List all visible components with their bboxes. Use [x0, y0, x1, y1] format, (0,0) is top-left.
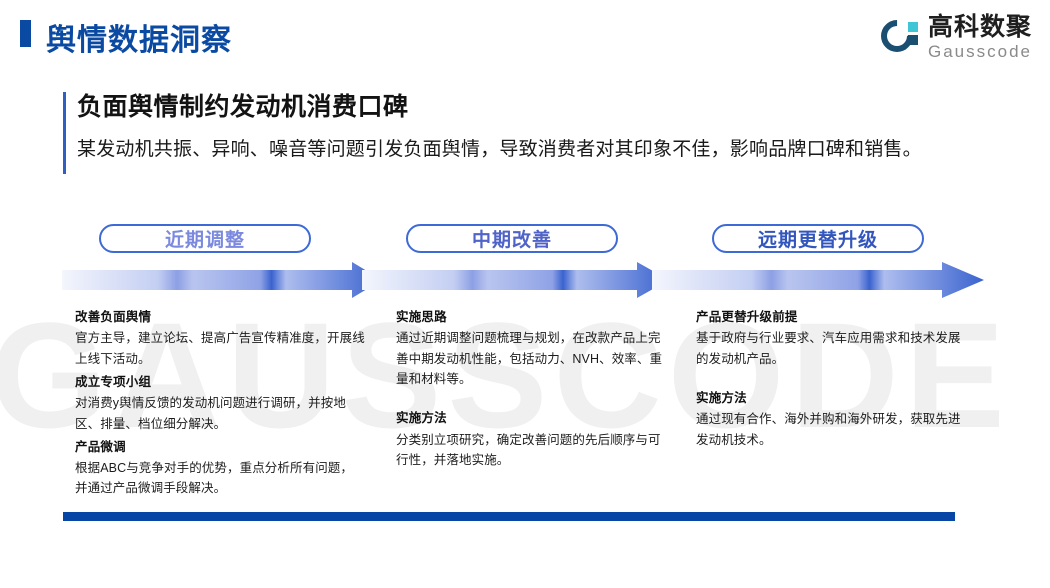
block-spacer — [396, 393, 671, 409]
lead-subtitle: 某发动机共振、异响、噪音等问题引发负面舆情，导致消费者对其印象不佳，影响品牌口碑… — [77, 138, 983, 163]
block-body: 基于政府与行业要求、汽车应用需求和技术发展的发动机产品。 — [696, 328, 971, 369]
content-block: 改善负面舆情 官方主导，建立论坛、提高广告宣传精准度，开展线上线下活动。 — [75, 308, 365, 369]
logo-name-en: Gausscode — [928, 43, 1032, 60]
content-block: 实施方法 通过现有合作、海外并购和海外研发，获取先进发动机技术。 — [696, 389, 971, 450]
content-block: 成立专项小组 对消费y舆情反馈的发动机问题进行调研，并按地区、排量、档位细分解决… — [75, 373, 365, 434]
block-heading: 产品更替升级前提 — [696, 308, 971, 327]
logo-wordmark: 高科数聚 Gausscode — [928, 15, 1032, 60]
phase-pill-label: 中期改善 — [472, 225, 552, 252]
logo-accent-square-icon — [908, 22, 918, 32]
block-heading: 产品微调 — [75, 438, 365, 457]
block-body: 通过现有合作、海外并购和海外研发，获取先进发动机技术。 — [696, 409, 971, 450]
block-spacer — [696, 373, 971, 389]
block-heading: 成立专项小组 — [75, 373, 365, 392]
column-long-term: 产品更替升级前提 基于政府与行业要求、汽车应用需求和技术发展的发动机产品。 实施… — [696, 308, 971, 454]
phase-pill-near-term[interactable]: 近期调整 — [99, 224, 311, 253]
page-title: 舆情数据洞察 — [46, 15, 232, 59]
column-mid-term: 实施思路 通过近期调整问题梳理与规划，在改款产品上完善中期发动机性能，包括动力、… — [396, 308, 671, 474]
footer-accent-bar — [63, 512, 955, 521]
content-block: 实施思路 通过近期调整问题梳理与规划，在改款产品上完善中期发动机性能，包括动力、… — [396, 308, 671, 389]
content-block: 产品微调 根据ABC与竞争对手的优势，重点分析所有问题，并通过产品微调手段解决。 — [75, 438, 365, 499]
block-body: 官方主导，建立论坛、提高广告宣传精准度，开展线上线下活动。 — [75, 328, 365, 369]
logo-dark-square-icon — [908, 35, 918, 45]
block-body: 通过近期调整问题梳理与规划，在改款产品上完善中期发动机性能，包括动力、NVH、效… — [396, 328, 671, 389]
phase-pill-label: 远期更替升级 — [758, 225, 878, 252]
logo-name-cn: 高科数聚 — [928, 15, 1032, 40]
block-body: 对消费y舆情反馈的发动机问题进行调研，并按地区、排量、档位细分解决。 — [75, 393, 365, 434]
header-bullet-icon — [20, 20, 31, 47]
brand-logo: 高科数聚 Gausscode — [881, 12, 1032, 62]
block-heading: 实施思路 — [396, 308, 671, 327]
block-body: 分类别立项研究，确定改善问题的先后顺序与可行性，并落地实施。 — [396, 430, 671, 471]
phase-arrow-band — [62, 262, 987, 298]
phase-pill-long-term[interactable]: 远期更替升级 — [712, 224, 924, 253]
content-block: 实施方法 分类别立项研究，确定改善问题的先后顺序与可行性，并落地实施。 — [396, 409, 671, 470]
lead-title: 负面舆情制约发动机消费口碑 — [77, 92, 983, 122]
column-near-term: 改善负面舆情 官方主导，建立论坛、提高广告宣传精准度，开展线上线下活动。 成立专… — [75, 308, 365, 503]
block-heading: 实施方法 — [396, 409, 671, 428]
lead-accent-bar — [63, 92, 66, 174]
phase-pill-label: 近期调整 — [165, 225, 245, 252]
content-block: 产品更替升级前提 基于政府与行业要求、汽车应用需求和技术发展的发动机产品。 — [696, 308, 971, 369]
gausscode-logo-icon — [881, 18, 919, 56]
phase-pill-mid-term[interactable]: 中期改善 — [406, 224, 618, 253]
block-heading: 改善负面舆情 — [75, 308, 365, 327]
block-body: 根据ABC与竞争对手的优势，重点分析所有问题，并通过产品微调手段解决。 — [75, 458, 365, 499]
lead-block: 负面舆情制约发动机消费口碑 某发动机共振、异响、噪音等问题引发负面舆情，导致消费… — [63, 92, 983, 163]
block-heading: 实施方法 — [696, 389, 971, 408]
